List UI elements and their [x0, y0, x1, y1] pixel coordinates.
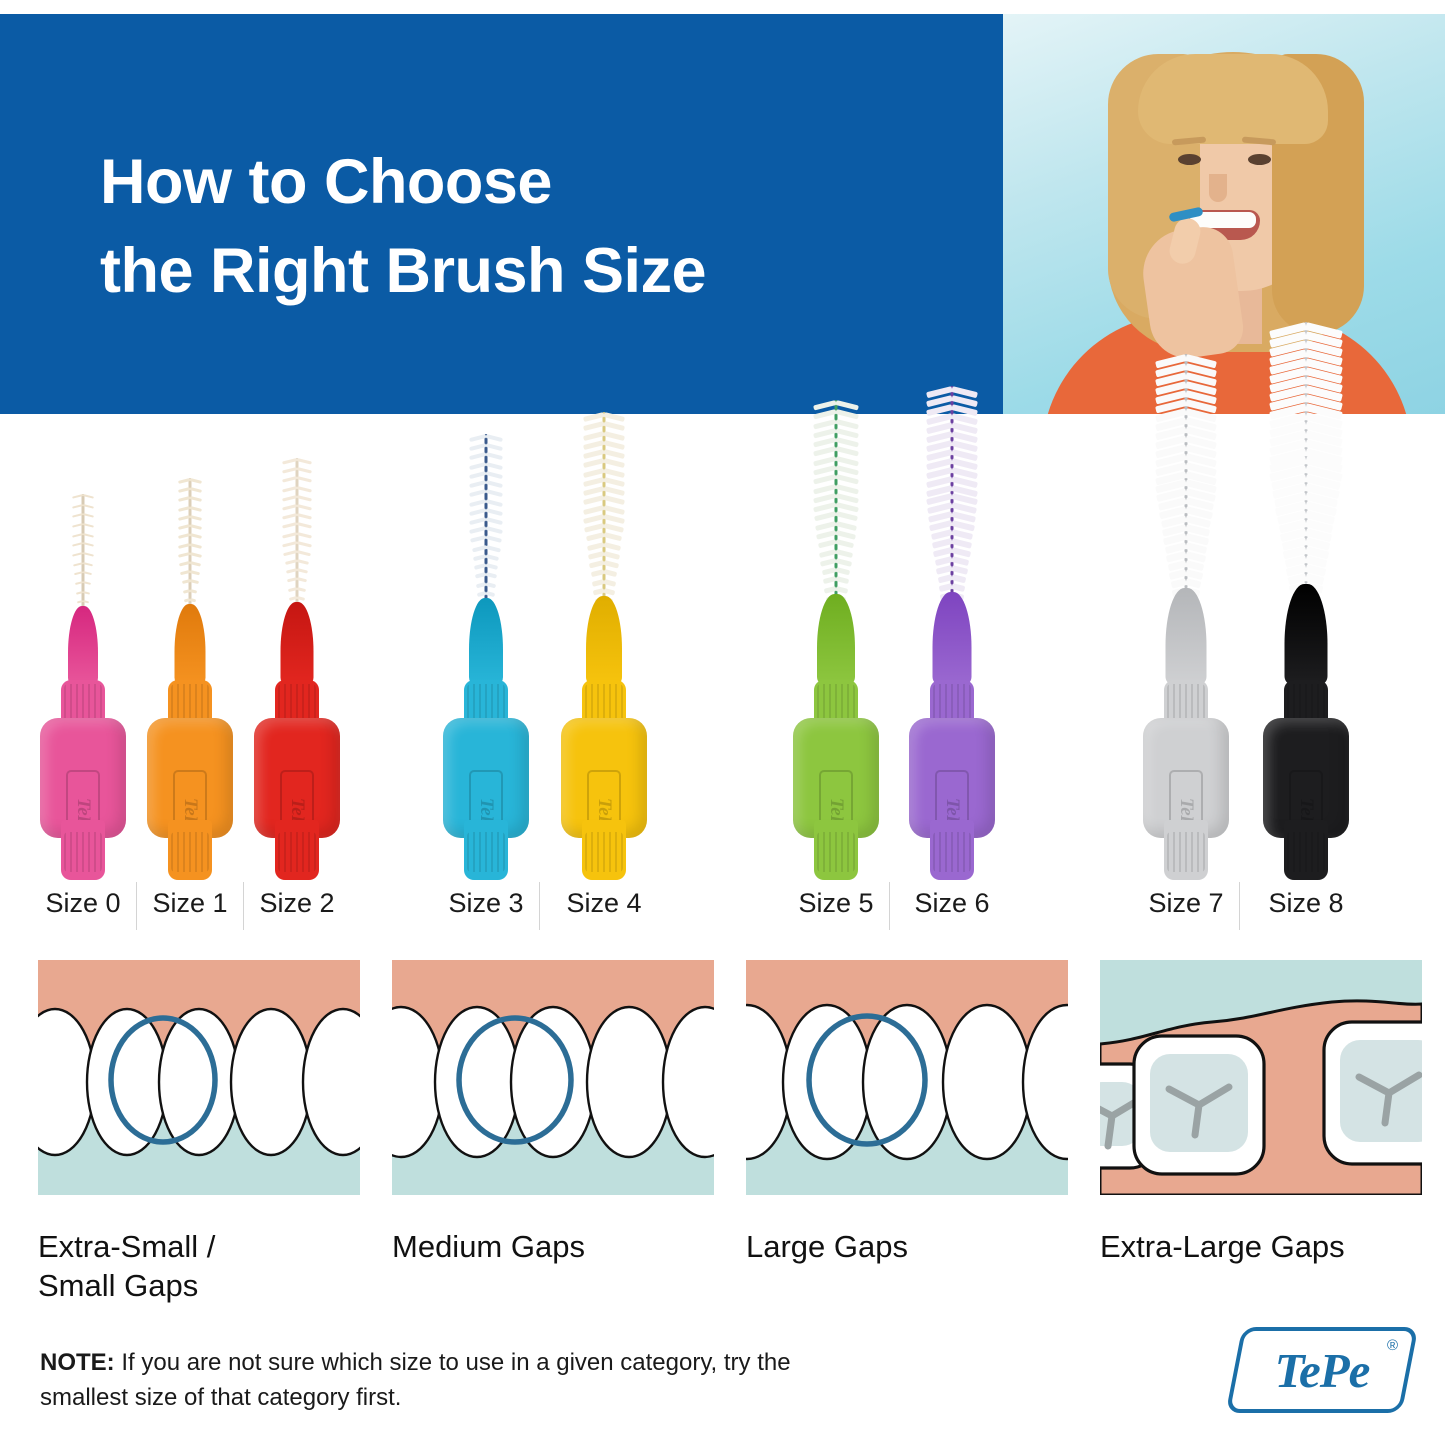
- bristle: [583, 495, 605, 505]
- photo-eye-left: [1178, 154, 1201, 165]
- bristle: [486, 462, 503, 470]
- gap-label: Extra-Large Gaps: [1100, 1228, 1445, 1267]
- handle-base-ridges: [171, 832, 209, 872]
- note-body: If you are not sure which size to use in…: [40, 1349, 791, 1411]
- bristle: [603, 495, 625, 505]
- handle-base-ridges: [467, 832, 505, 872]
- size-label-size-3: Size 3: [435, 888, 537, 919]
- bristle: [603, 551, 620, 560]
- bristle: [835, 530, 855, 540]
- bristle: [603, 523, 623, 533]
- bristle: [814, 511, 837, 521]
- bristle: [583, 458, 605, 468]
- bristle: [486, 554, 500, 561]
- bristle: [297, 559, 310, 565]
- brush-size-8[interactable]: TePe: [1263, 450, 1349, 880]
- bristle: [603, 431, 625, 441]
- bristle: [486, 545, 501, 552]
- hero-photo: [996, 14, 1445, 414]
- note-text: NOTE: If you are not sure which size to …: [40, 1346, 870, 1416]
- bristle: [835, 567, 850, 575]
- bristle: [813, 474, 837, 484]
- photo-nose: [1209, 174, 1227, 202]
- bristle: [603, 542, 621, 551]
- bristle: [486, 452, 503, 460]
- size-label-size-1: Size 1: [139, 888, 241, 919]
- bristle: [297, 467, 312, 474]
- gap-diagram-svg: [1100, 960, 1422, 1195]
- bristle: [603, 458, 625, 468]
- page-title: How to Choose the Right Brush Size: [100, 138, 706, 317]
- brush-handle: TePe: [1263, 680, 1349, 880]
- brush-bristles: [282, 458, 312, 608]
- brush-handle: TePe: [443, 680, 529, 880]
- brush-bristles: [1155, 354, 1217, 594]
- brush-neck: [281, 602, 314, 684]
- bristle: [583, 421, 605, 431]
- header-divider: [996, 14, 1003, 414]
- bristle: [297, 495, 312, 502]
- gap-diagram-row: Extra-Small / Small GapsMedium GapsLarge…: [0, 960, 1445, 1200]
- bristle: [583, 505, 605, 515]
- gap-diagram-extra-small-small-gaps: [38, 960, 360, 1195]
- bristle: [835, 549, 853, 558]
- size-label-size-4: Size 4: [553, 888, 655, 919]
- bristle: [835, 511, 858, 521]
- bristle: [583, 431, 605, 441]
- brush-neck: [1166, 588, 1207, 684]
- brush-handle: TePe: [561, 680, 647, 880]
- gap-diagram-svg: [38, 960, 360, 1195]
- brush-handle: TePe: [909, 680, 995, 880]
- photo-eye-right: [1248, 154, 1271, 165]
- brush-neck: [586, 596, 622, 684]
- bristle: [297, 550, 311, 556]
- brush-bristles: [926, 386, 978, 598]
- header-banner: How to Choose the Right Brush Size: [0, 14, 1445, 414]
- brush-neck: [1285, 584, 1328, 684]
- bristle: [603, 505, 625, 515]
- gap-diagram-large-gaps: [746, 960, 1068, 1195]
- bristle: [583, 477, 605, 487]
- bristle: [603, 468, 625, 478]
- brush-bristles: [469, 434, 503, 604]
- bristle: [813, 446, 837, 456]
- size-label-divider: [136, 882, 137, 930]
- bristle: [835, 474, 859, 484]
- bristle: [297, 513, 312, 520]
- bristle: [297, 541, 312, 547]
- size-label-row: Size 0Size 1Size 2Size 3Size 4Size 5Size…: [0, 888, 1445, 928]
- gap-label: Large Gaps: [746, 1228, 1096, 1267]
- brush-size-0[interactable]: TePe: [40, 450, 126, 880]
- brush-handle: TePe: [793, 680, 879, 880]
- bristle: [486, 480, 503, 488]
- gap-label: Extra-Small / Small Gaps: [38, 1228, 388, 1306]
- handle-base-ridges: [1287, 832, 1325, 872]
- size-label-size-2: Size 2: [246, 888, 348, 919]
- brush-handle: TePe: [254, 680, 340, 880]
- bristle: [603, 560, 618, 568]
- bristle: [603, 449, 625, 459]
- brush-handle: TePe: [1143, 680, 1229, 880]
- gap-label: Medium Gaps: [392, 1228, 742, 1267]
- bristle: [297, 504, 312, 511]
- bristle: [583, 440, 605, 450]
- brush-neck: [469, 598, 503, 684]
- tepe-logo: TePe ®: [1234, 1327, 1410, 1413]
- bristle: [835, 484, 859, 494]
- brush-bristles: [583, 412, 625, 602]
- brush-neck: [817, 594, 855, 684]
- brush-bristles: [178, 478, 202, 610]
- bristle: [835, 539, 854, 548]
- bristle: [835, 446, 859, 456]
- bristle: [603, 421, 625, 431]
- handle-base-ridges: [278, 832, 316, 872]
- bristle: [835, 456, 859, 466]
- handle-base-ridges: [817, 832, 855, 872]
- bristle: [486, 508, 503, 516]
- handle-base-ridges: [64, 832, 102, 872]
- gap-diagram-svg: [392, 960, 714, 1195]
- brush-bristles: [1269, 322, 1343, 590]
- size-label-size-6: Size 6: [901, 888, 1003, 919]
- size-label-divider: [243, 882, 244, 930]
- size-label-divider: [889, 882, 890, 930]
- bristle: [835, 521, 857, 531]
- brush-size-2[interactable]: TePe: [254, 450, 340, 880]
- bristle: [486, 443, 503, 451]
- brush-handle: TePe: [40, 680, 126, 880]
- bristle: [486, 535, 502, 543]
- registered-trademark-icon: ®: [1387, 1337, 1398, 1354]
- photo-hair-bangs: [1138, 54, 1328, 144]
- bristle: [486, 471, 503, 479]
- brush-handle: TePe: [147, 680, 233, 880]
- bristle: [486, 526, 503, 534]
- bristle: [603, 532, 622, 541]
- bristle: [486, 517, 503, 525]
- bristle: [297, 476, 312, 483]
- brush-size-7[interactable]: TePe: [1143, 450, 1229, 880]
- size-label-size-5: Size 5: [785, 888, 887, 919]
- bristle: [951, 574, 966, 583]
- bristle: [835, 409, 859, 419]
- handle-base-ridges: [933, 832, 971, 872]
- gap-diagram-svg: [746, 960, 1068, 1195]
- bristle: [486, 489, 503, 497]
- brush-size-6[interactable]: TePe: [909, 450, 995, 880]
- handle-base-ridges: [585, 832, 623, 872]
- bristle: [603, 569, 617, 577]
- brush-bristles: [72, 494, 94, 612]
- brush-size-5[interactable]: TePe: [793, 450, 879, 880]
- bristle: [486, 499, 503, 507]
- bristle: [583, 468, 605, 478]
- brush-bristles: [813, 400, 859, 600]
- bristle: [835, 558, 851, 567]
- size-label-size-0: Size 0: [32, 888, 134, 919]
- bristle: [603, 486, 625, 496]
- gap-diagram-extra-large-gaps: [1100, 960, 1422, 1195]
- bristle: [297, 532, 312, 539]
- bristle: [603, 514, 624, 524]
- size-label-divider: [539, 882, 540, 930]
- bristle: [603, 412, 625, 422]
- brush-neck: [933, 592, 972, 684]
- size-label-size-7: Size 7: [1135, 888, 1237, 919]
- bristle: [835, 419, 859, 429]
- bristle: [297, 522, 312, 529]
- brush-size-4[interactable]: TePe: [561, 450, 647, 880]
- brush-lineup: TePeTePeTePeTePeTePeTePeTePeTePeTePe: [0, 430, 1445, 930]
- brush-size-3[interactable]: TePe: [443, 450, 529, 880]
- note-prefix: NOTE:: [40, 1349, 115, 1376]
- brush-neck: [68, 606, 98, 684]
- bristle: [486, 434, 503, 442]
- bristle: [603, 477, 625, 487]
- handle-base-ridges: [1167, 832, 1205, 872]
- logo-wordmark: TePe: [1234, 1327, 1410, 1413]
- bristle: [813, 409, 837, 419]
- bristle: [815, 521, 837, 531]
- bristle: [297, 486, 312, 493]
- bristle: [603, 440, 625, 450]
- bristle: [297, 458, 312, 465]
- brush-neck: [175, 604, 206, 684]
- brush-size-1[interactable]: TePe: [147, 450, 233, 880]
- gap-diagram-medium-gaps: [392, 960, 714, 1195]
- size-label-size-8: Size 8: [1255, 888, 1357, 919]
- size-label-divider: [1239, 882, 1240, 930]
